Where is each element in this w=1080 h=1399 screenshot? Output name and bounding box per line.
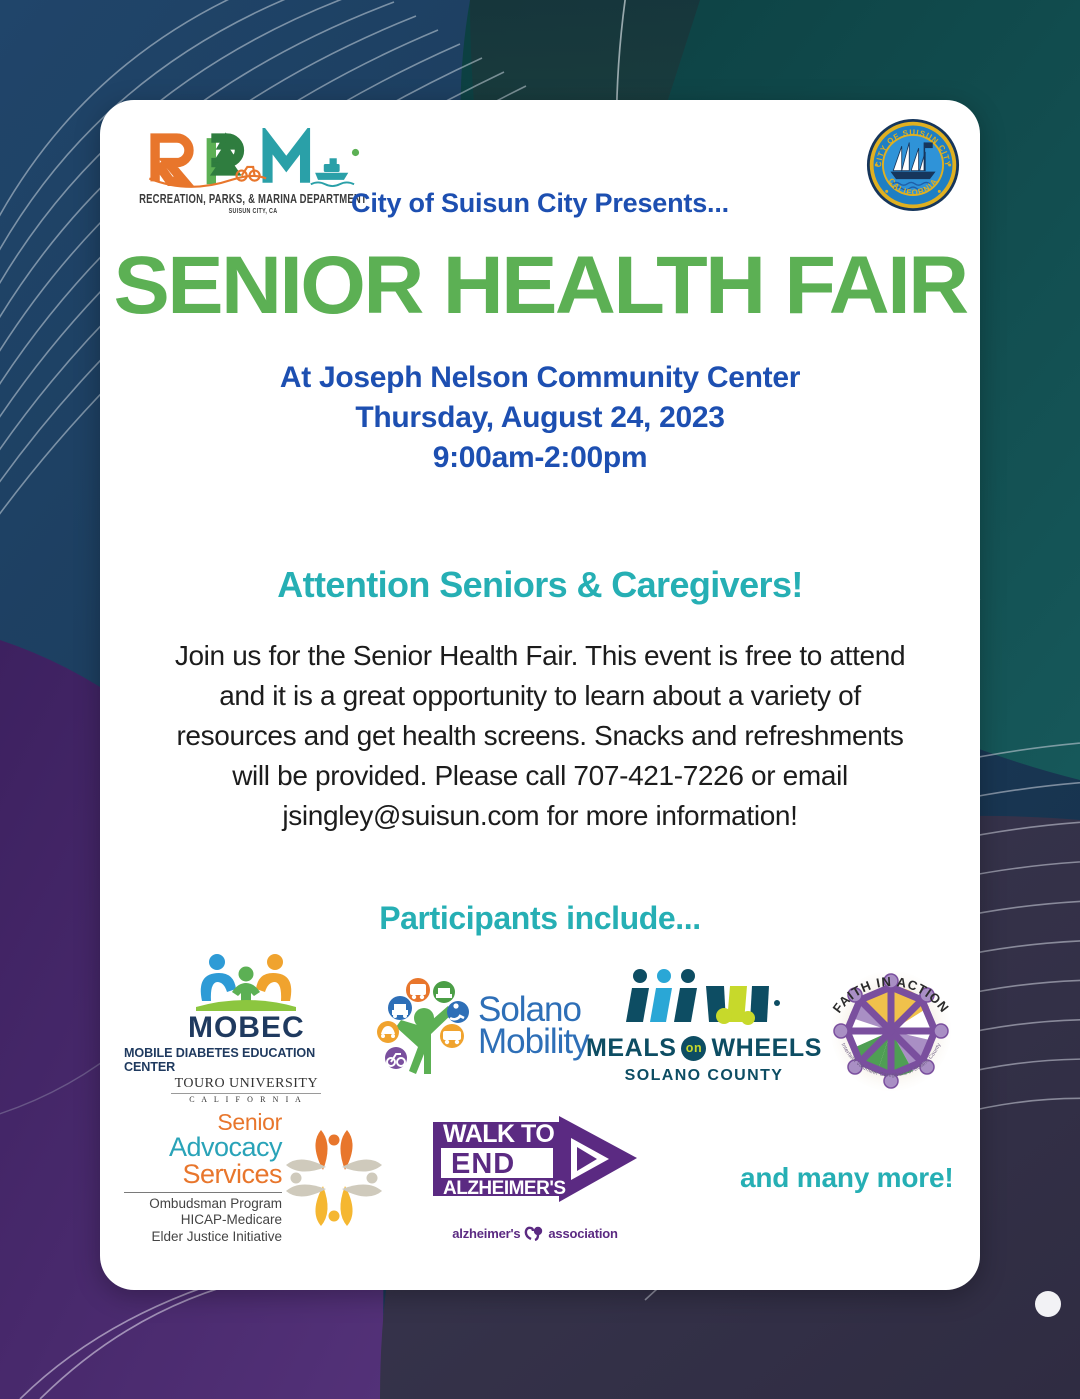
presents-line: City of Suisun City Presents... <box>100 188 980 219</box>
wta-line1: WALK TO <box>443 1120 554 1148</box>
logo-meals-on-wheels: MEALS on WHEELS SOLANO COUNTY <box>590 968 818 1085</box>
faith-in-action-mark-icon: FAITH IN ACTION Interfaith Volunteer Car… <box>818 955 964 1097</box>
mobec-subtitle: MOBILE DIABETES EDUCATION CENTER <box>124 1046 369 1074</box>
event-venue: At Joseph Nelson Community Center <box>100 358 980 398</box>
attention-heading: Attention Seniors & Caregivers! <box>100 564 980 606</box>
logo-walk-to-end-alzheimers: WALK TO END ALZHEIMER'S alzheimer's asso… <box>420 1116 650 1241</box>
participants-heading: Participants include... <box>100 900 980 937</box>
event-details: At Joseph Nelson Community Center Thursd… <box>100 358 980 478</box>
sas-sub2: HICAP-Medicare <box>124 1212 282 1228</box>
event-date: Thursday, August 24, 2023 <box>100 398 980 438</box>
mobec-wordmark: MOBEC <box>188 1013 305 1043</box>
wta-line2: END <box>451 1148 515 1180</box>
logo-senior-advocacy-services: Senior Advocacy Services Ombudsman Progr… <box>124 1111 394 1245</box>
logo-faith-in-action: FAITH IN ACTION Interfaith Volunteer Car… <box>818 955 964 1097</box>
flyer-card: RECREATION, PARKS, & MARINA DEPARTMENT S… <box>100 100 980 1290</box>
mow-word1: MEALS <box>586 1034 677 1063</box>
logo-mobec: MOBEC MOBILE DIABETES EDUCATION CENTER T… <box>124 949 369 1104</box>
participant-logos-row-1: MOBEC MOBILE DIABETES EDUCATION CENTER T… <box>124 952 964 1100</box>
mow-word2: WHEELS <box>711 1034 822 1063</box>
participant-logos-row-2: Senior Advocacy Services Ombudsman Progr… <box>124 1108 964 1248</box>
logo-solano-mobility: Solano Mobility <box>369 974 590 1078</box>
event-time: 9:00am-2:00pm <box>100 438 980 478</box>
wta-line3: ALZHEIMER'S <box>443 1178 566 1199</box>
alzheimers-association-icon <box>524 1226 544 1241</box>
body-paragraph: Join us for the Senior Health Fair. This… <box>158 636 922 836</box>
sas-line2: Advocacy <box>124 1134 282 1161</box>
assoc-word1: alzheimer's <box>452 1226 520 1241</box>
alzheimers-association-line: alzheimer's association <box>452 1226 617 1241</box>
mobec-divider <box>171 1093 321 1094</box>
solano-mobility-line2: Mobility <box>478 1026 589 1058</box>
sas-sub3: Elder Justice Initiative <box>124 1229 282 1245</box>
poster-root: RECREATION, PARKS, & MARINA DEPARTMENT S… <box>0 0 1080 1399</box>
sas-divider <box>124 1192 282 1193</box>
meals-on-wheels-subtitle: SOLANO COUNTY <box>625 1067 784 1085</box>
page-title: SENIOR HEALTH FAIR <box>100 245 980 327</box>
mobec-state: C A L I F O R N I A <box>189 1095 303 1104</box>
sas-line1: Senior <box>124 1111 282 1134</box>
meals-on-wheels-wordmark: MEALS on WHEELS <box>586 1034 822 1063</box>
sas-line3: Services <box>124 1161 282 1188</box>
meals-on-wheels-mark-icon <box>618 968 790 1030</box>
walk-to-end-arrow-icon: WALK TO END ALZHEIMER'S <box>431 1116 639 1224</box>
sas-sub1: Ombudsman Program <box>124 1196 282 1212</box>
mobec-figures-icon <box>186 949 306 1011</box>
assoc-word2: association <box>548 1226 617 1241</box>
sas-flower-icon <box>282 1126 386 1230</box>
solano-mobility-figure-icon <box>370 974 482 1078</box>
and-many-more-text: and many more! <box>740 1162 953 1194</box>
rpm-logomark-icon <box>145 128 361 190</box>
mobec-university: TOURO UNIVERSITY <box>175 1076 318 1092</box>
mow-on-badge: on <box>681 1036 706 1061</box>
